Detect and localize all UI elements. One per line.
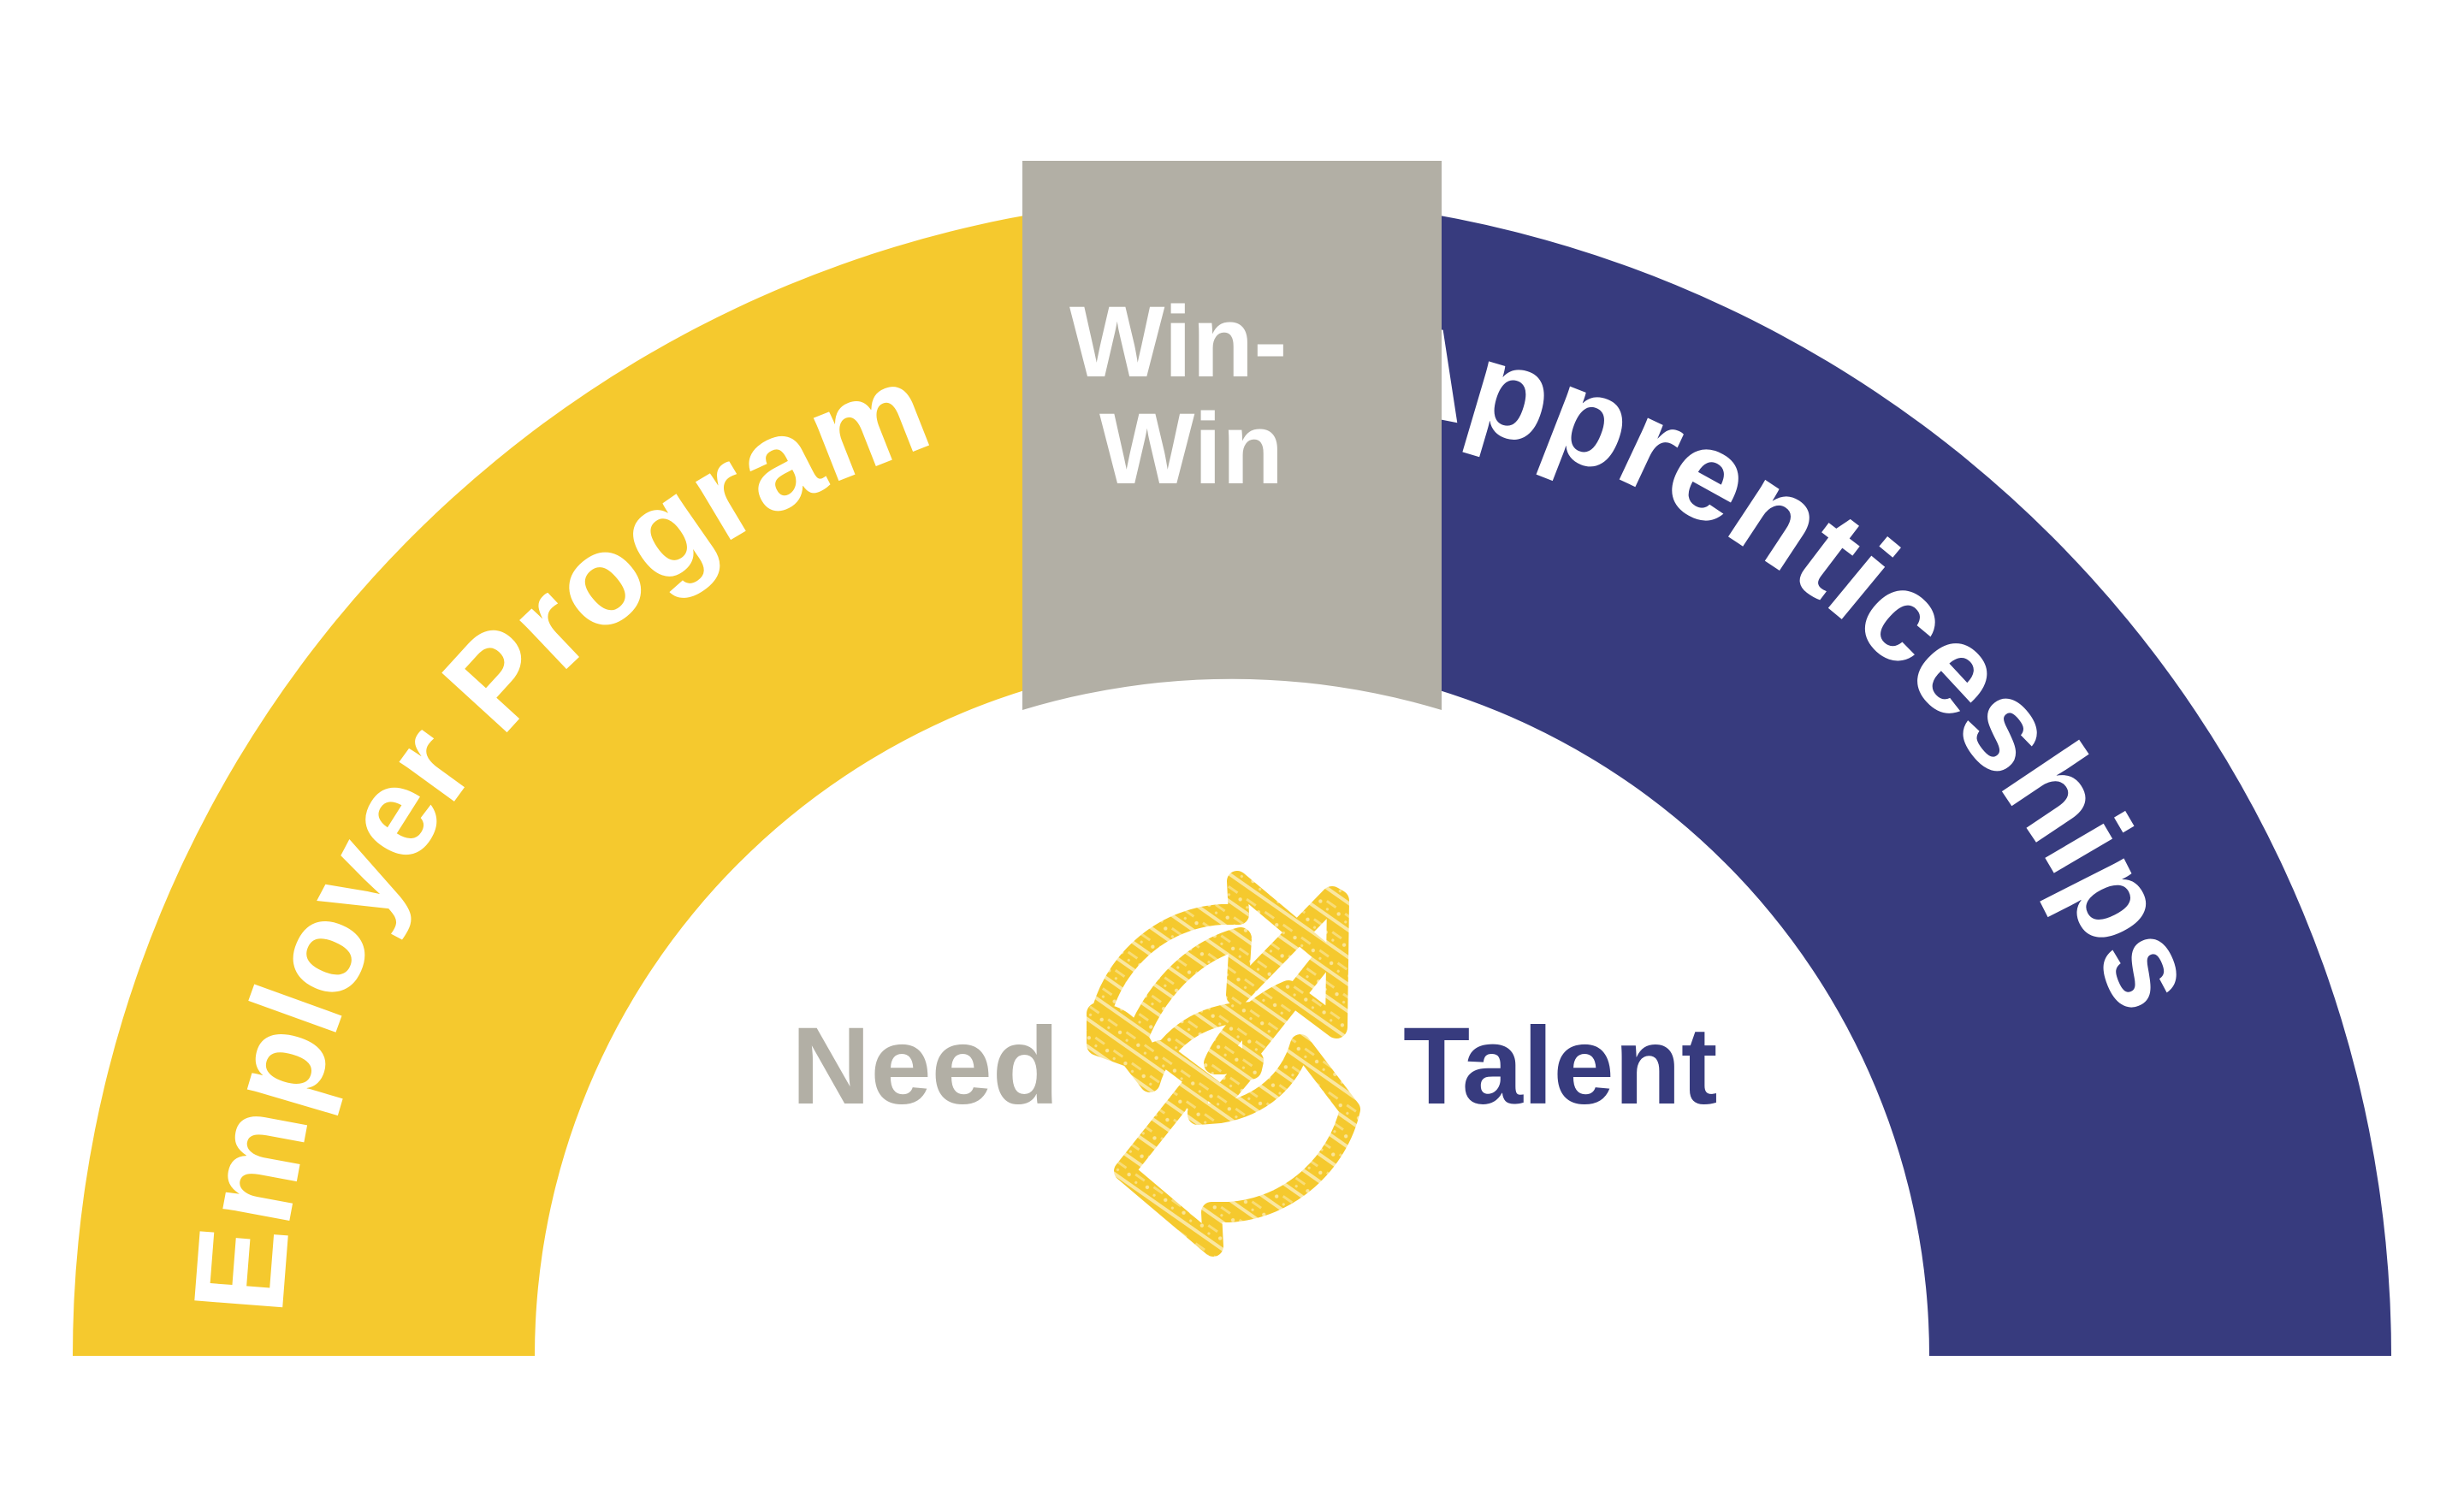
semicircle-diagram: Employer Program Apprenticeships Win- Wi… (0, 0, 2464, 1497)
keystone-label-line2: Win (1099, 393, 1283, 506)
two-way-exchange-arrows-icon (1098, 881, 1350, 1246)
keystone-label-line1: Win- (1069, 286, 1288, 399)
center-word-talent: Talent (1403, 1005, 1717, 1127)
center-word-need: Need (791, 1005, 1059, 1127)
keystone-win-win[interactable]: Win- Win (1022, 161, 1442, 725)
diagram-canvas: Employer Program Apprenticeships Win- Wi… (0, 0, 2464, 1497)
